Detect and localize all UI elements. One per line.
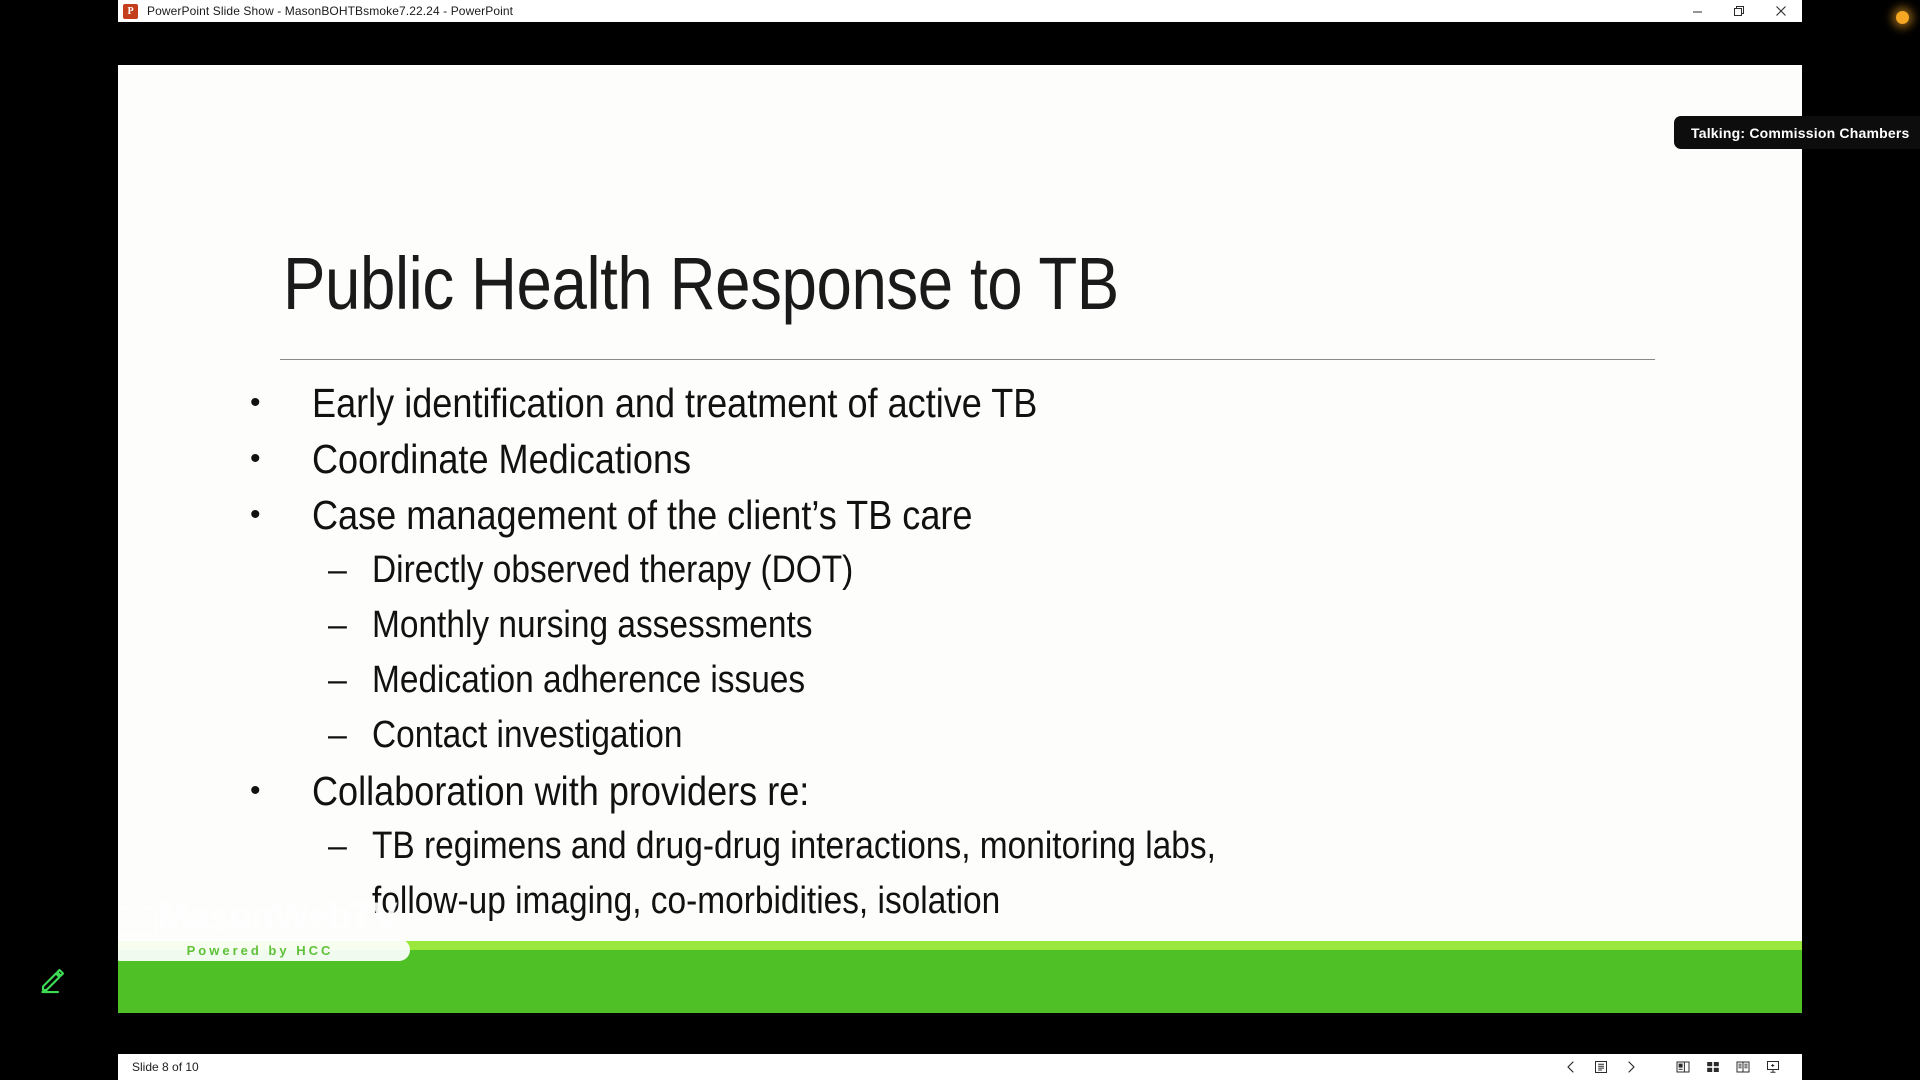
list-item-label: Collaboration with providers re: <box>312 763 809 819</box>
television-screen <box>118 906 158 937</box>
status-bar-navigation-group <box>1556 1054 1646 1080</box>
powerpoint-slideshow-window: P PowerPoint Slide Show - MasonBOHTBsmok… <box>0 0 1920 1080</box>
notes-icon <box>1593 1059 1609 1075</box>
slide-counter-label: Slide 8 of 10 <box>132 1060 199 1074</box>
reading-view-button[interactable] <box>1728 1055 1758 1079</box>
title-bar-left: P PowerPoint Slide Show - MasonBOHTBsmok… <box>118 4 1676 19</box>
reading-view-icon <box>1735 1059 1751 1075</box>
list-item-label: Early identification and treatment of ac… <box>312 375 1037 431</box>
status-bar: Slide 8 of 10 <box>118 1054 1802 1080</box>
notes-button[interactable] <box>1586 1055 1616 1079</box>
restore-icon <box>1733 5 1745 17</box>
window-controls <box>1676 0 1802 22</box>
bullet-marker: • <box>250 763 312 819</box>
list-item: • Case management of the client’s TB car… <box>236 487 1736 543</box>
normal-view-icon <box>1675 1059 1691 1075</box>
list-item-label: Medication adherence issues <box>372 653 805 708</box>
title-divider-rule <box>280 359 1655 360</box>
close-icon <box>1775 5 1787 17</box>
watermark-tagline-pill: Powered by HCC <box>118 939 410 961</box>
television-antenna-right <box>128 891 138 907</box>
title-bar: P PowerPoint Slide Show - MasonBOHTBsmok… <box>118 0 1802 22</box>
slide-body-bullet-list: • Early identification and treatment of … <box>236 375 1736 929</box>
recording-indicator-dot <box>1896 11 1909 24</box>
next-slide-button[interactable] <box>1616 1055 1646 1079</box>
slide-show-button[interactable] <box>1758 1055 1788 1079</box>
restore-button[interactable] <box>1718 0 1760 22</box>
watermark-brand-label: MasonWebTV <box>158 897 396 937</box>
watermark-tagline-label: Powered by HCC <box>187 943 334 958</box>
dash-marker: – <box>328 543 372 598</box>
bullet-marker: • <box>250 431 312 487</box>
list-item: • Collaboration with providers re: <box>236 763 1736 819</box>
bullet-marker: • <box>250 487 312 543</box>
list-item-label: TB regimens and drug-drug interactions, … <box>372 819 1216 929</box>
list-item: – Medication adherence issues <box>236 653 1736 708</box>
list-item-label: Monthly nursing assessments <box>372 598 812 653</box>
status-bar-view-group <box>1668 1054 1788 1080</box>
list-item: – TB regimens and drug-drug interactions… <box>236 819 1736 929</box>
talking-indicator-pill: Talking: Commission Chambers <box>1674 116 1920 149</box>
close-button[interactable] <box>1760 0 1802 22</box>
slide-canvas[interactable]: Public Health Response to TB • Early ide… <box>118 65 1802 1013</box>
chevron-left-icon <box>1564 1060 1578 1074</box>
list-item-label: Coordinate Medications <box>312 431 691 487</box>
list-item-label: Directly observed therapy (DOT) <box>372 543 853 598</box>
window-title: PowerPoint Slide Show - MasonBOHTBsmoke7… <box>147 4 513 18</box>
slide-show-icon <box>1765 1059 1781 1075</box>
list-item-label: Case management of the client’s TB care <box>312 487 972 543</box>
chevron-right-icon <box>1624 1060 1638 1074</box>
masonwebtv-watermark: MasonWebTV Powered by HCC <box>118 891 410 961</box>
powerpoint-icon: P <box>123 4 138 19</box>
list-item: • Coordinate Medications <box>236 431 1736 487</box>
slide-title: Public Health Response to TB <box>283 247 1470 321</box>
minimize-button[interactable] <box>1676 0 1718 22</box>
television-icon <box>118 897 162 937</box>
pen-icon <box>38 965 68 995</box>
bullet-marker: • <box>250 375 312 431</box>
list-item: – Monthly nursing assessments <box>236 598 1736 653</box>
dash-marker: – <box>328 598 372 653</box>
list-item: • Early identification and treatment of … <box>236 375 1736 431</box>
slide-sorter-button[interactable] <box>1698 1055 1728 1079</box>
dash-marker: – <box>328 708 372 763</box>
previous-slide-button[interactable] <box>1556 1055 1586 1079</box>
dash-marker: – <box>328 819 372 874</box>
list-item: – Directly observed therapy (DOT) <box>236 543 1736 598</box>
normal-view-button[interactable] <box>1668 1055 1698 1079</box>
slide-sorter-icon <box>1705 1059 1721 1075</box>
minimize-icon <box>1692 6 1703 17</box>
dash-marker: – <box>328 653 372 708</box>
watermark-brand-row: MasonWebTV <box>118 891 410 937</box>
list-item-label: Contact investigation <box>372 708 682 763</box>
talking-indicator-label: Talking: Commission Chambers <box>1691 125 1910 141</box>
pen-tool-button[interactable] <box>33 960 73 1000</box>
list-item: – Contact investigation <box>236 708 1736 763</box>
